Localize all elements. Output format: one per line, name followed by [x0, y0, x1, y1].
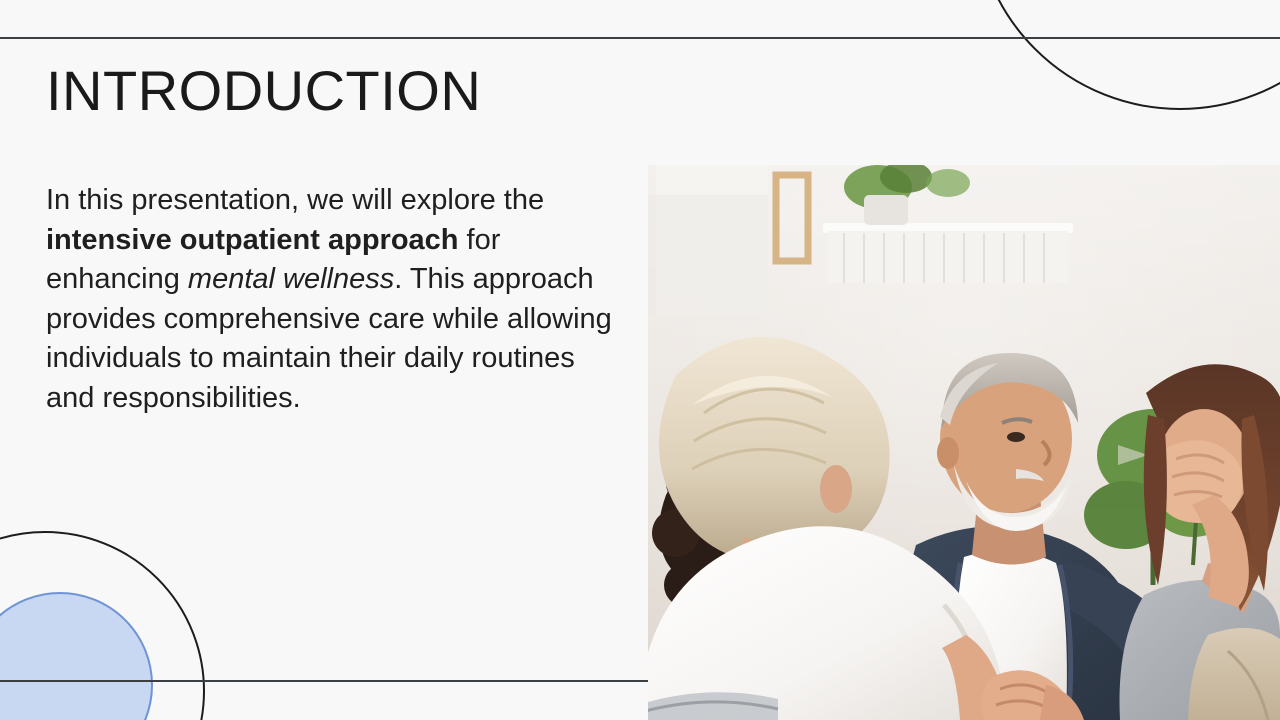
page-title: INTRODUCTION: [46, 62, 481, 121]
body-segment-1: In this presentation, we will explore th…: [46, 184, 544, 216]
body-paragraph: In this presentation, we will explore th…: [46, 181, 621, 418]
slide-introduction: INTRODUCTION In this presentation, we wi…: [0, 0, 1280, 720]
body-segment-bold: intensive outpatient approach: [46, 224, 459, 256]
arc-decoration-icon: [974, 0, 1280, 110]
support-group-photo: [648, 165, 1280, 720]
body-segment-italic: mental wellness: [188, 263, 394, 295]
divider-top: [0, 37, 1280, 39]
